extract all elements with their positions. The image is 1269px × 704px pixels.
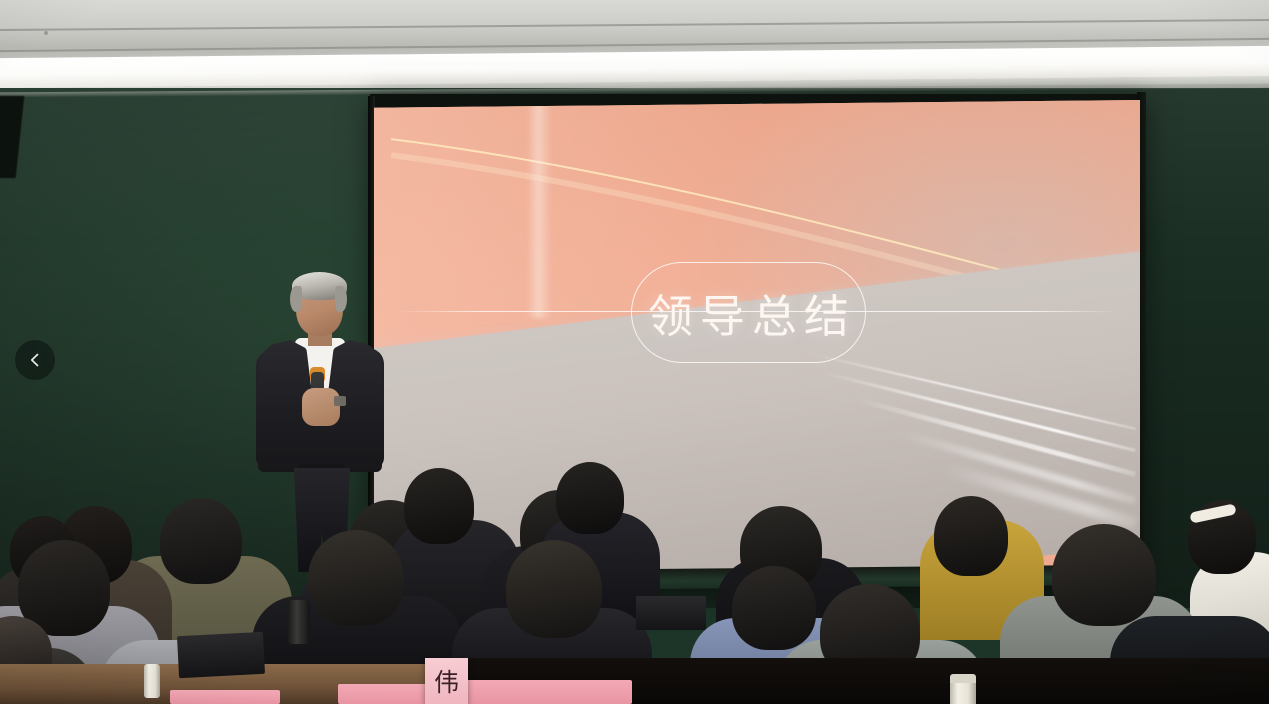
thermos-cup-lid xyxy=(950,674,976,683)
laptop xyxy=(177,632,265,678)
audience-member-head xyxy=(732,566,816,650)
presenter-hair-side xyxy=(290,286,302,312)
thermos-bottle xyxy=(288,600,310,644)
audience-member-head xyxy=(934,496,1008,576)
projector-light-column xyxy=(527,100,552,318)
audience-member-head xyxy=(1052,524,1156,626)
name-placard: 伟 xyxy=(425,658,468,704)
thermos-cup xyxy=(950,680,976,704)
audience-member-head xyxy=(404,468,474,544)
pink-document xyxy=(464,680,632,704)
photo-viewer: 领导总结 xyxy=(0,0,1269,704)
chevron-left-icon xyxy=(27,352,43,368)
ceiling-fixture-dot xyxy=(44,31,48,35)
presenter-wristwatch xyxy=(334,396,346,406)
slide-title-pill: 领导总结 xyxy=(631,262,867,363)
water-cup xyxy=(144,664,160,698)
audience-member-head xyxy=(308,530,404,626)
projection-screen: 领导总结 xyxy=(374,100,1140,584)
slide-title: 领导总结 xyxy=(641,280,856,345)
audience-member-head xyxy=(556,462,624,534)
ceiling-seam xyxy=(0,19,1269,31)
audience-member-head xyxy=(506,540,602,638)
audience-member-head xyxy=(160,498,242,584)
pink-document xyxy=(170,690,280,704)
laptop xyxy=(636,596,706,630)
name-placard-text: 伟 xyxy=(434,663,459,699)
carousel-prev-button[interactable] xyxy=(15,340,55,380)
presenter-hair-side xyxy=(335,286,347,312)
presenter-hands xyxy=(302,388,340,426)
